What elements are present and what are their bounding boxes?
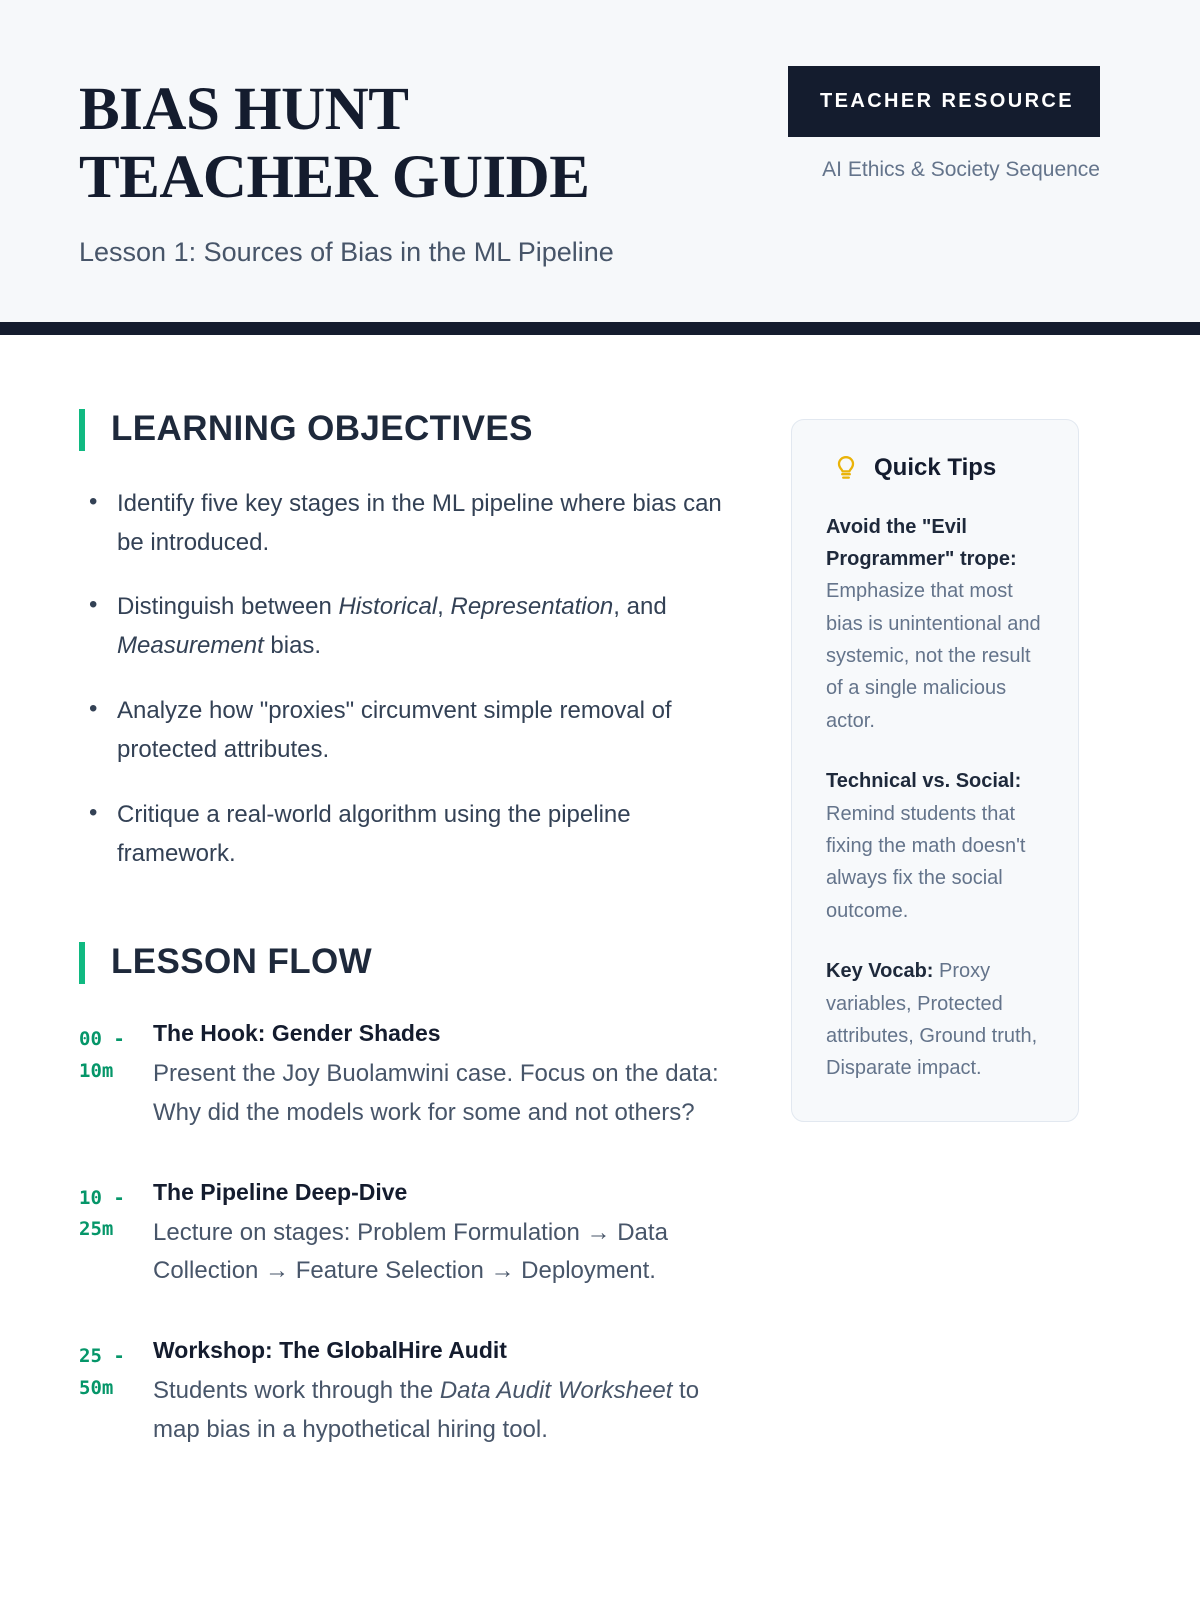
objective-item: Analyze how "proxies" circumvent simple … <box>79 692 739 770</box>
main-column: LEARNING OBJECTIVES Identify five key st… <box>79 409 739 1450</box>
sidebar-column: Quick Tips Avoid the "Evil Programmer" t… <box>791 409 1079 1122</box>
body-text: , and <box>613 593 666 620</box>
quick-tip-label: Technical vs. Social: <box>826 770 1021 792</box>
quick-tips-title: Quick Tips <box>874 454 996 483</box>
lesson-flow-description: Students work through the Data Audit Wor… <box>153 1372 739 1450</box>
quick-tip-item: Technical vs. Social: Remind students th… <box>826 765 1048 927</box>
body-text: bias. <box>264 632 321 659</box>
quick-tips-header: Quick Tips <box>826 454 1048 483</box>
body-text: Students work through the <box>153 1377 440 1404</box>
lesson-flow-time: 25 - 50m <box>79 1335 151 1405</box>
emphasis-text: Representation <box>451 593 614 620</box>
emphasis-text: Historical <box>338 593 437 620</box>
quick-tips-body: Avoid the "Evil Programmer" trope: Empha… <box>826 511 1048 1085</box>
body-text: Lecture on stages: Problem Formulation →… <box>153 1219 668 1285</box>
page-body: LEARNING OBJECTIVES Identify five key st… <box>0 335 1200 1510</box>
quick-tip-label: Key Vocab: <box>826 960 933 982</box>
body-text: Critique a real-world algorithm using th… <box>117 801 631 867</box>
objective-item: Distinguish between Historical, Represen… <box>79 588 739 666</box>
accent-bar-icon <box>79 409 85 451</box>
lightbulb-icon <box>834 455 858 481</box>
lesson-flow-time: 10 - 25m <box>79 1177 151 1247</box>
lesson-flow-description: Present the Joy Buolamwini case. Focus o… <box>153 1055 739 1133</box>
emphasis-text: Measurement <box>117 632 264 659</box>
body-text: Present the Joy Buolamwini case. Focus o… <box>153 1060 719 1126</box>
body-text: , <box>437 593 450 620</box>
lesson-flow-item: 25 - 50mWorkshop: The GlobalHire AuditSt… <box>79 1335 739 1450</box>
lesson-flow-title: The Hook: Gender Shades <box>153 1018 739 1049</box>
learning-objectives-section: LEARNING OBJECTIVES Identify five key st… <box>79 409 739 874</box>
lesson-flow-body: The Pipeline Deep-DiveLecture on stages:… <box>151 1177 739 1292</box>
accent-bar-icon <box>79 942 85 984</box>
header-title-block: BIAS HUNT TEACHER GUIDE Lesson 1: Source… <box>79 62 719 270</box>
lesson-flow-body: Workshop: The GlobalHire AuditStudents w… <box>151 1335 739 1450</box>
objective-item: Critique a real-world algorithm using th… <box>79 796 739 874</box>
header-meta-block: TEACHER RESOURCE AI Ethics & Society Seq… <box>788 62 1100 185</box>
lesson-flow-body: The Hook: Gender ShadesPresent the Joy B… <box>151 1018 739 1133</box>
flow-heading-row: LESSON FLOW <box>79 942 739 984</box>
quick-tips-card: Quick Tips Avoid the "Evil Programmer" t… <box>791 419 1079 1122</box>
lesson-flow-section: LESSON FLOW 00 - 10mThe Hook: Gender Sha… <box>79 942 739 1450</box>
body-text: Distinguish between <box>117 593 338 620</box>
quick-tip-text: Emphasize that most bias is unintentiona… <box>826 580 1041 732</box>
header-divider <box>0 322 1200 335</box>
quick-tip-label: Avoid the "Evil Programmer" trope: <box>826 516 1017 570</box>
page-header: BIAS HUNT TEACHER GUIDE Lesson 1: Source… <box>0 0 1200 322</box>
lesson-flow-item: 10 - 25mThe Pipeline Deep-DiveLecture on… <box>79 1177 739 1292</box>
objectives-list: Identify five key stages in the ML pipel… <box>79 485 739 874</box>
body-text: Analyze how "proxies" circumvent simple … <box>117 697 672 763</box>
objective-item: Identify five key stages in the ML pipel… <box>79 485 739 563</box>
page-title: BIAS HUNT TEACHER GUIDE <box>79 76 719 213</box>
sequence-label: AI Ethics & Society Sequence <box>788 155 1100 185</box>
emphasis-text: Data Audit Worksheet <box>440 1377 673 1404</box>
quick-tip-item: Avoid the "Evil Programmer" trope: Empha… <box>826 511 1048 738</box>
lesson-flow-time: 00 - 10m <box>79 1018 151 1088</box>
objectives-heading-row: LEARNING OBJECTIVES <box>79 409 739 451</box>
status-badge: TEACHER RESOURCE <box>788 66 1100 137</box>
lesson-flow-item: 00 - 10mThe Hook: Gender ShadesPresent t… <box>79 1018 739 1133</box>
objectives-heading: LEARNING OBJECTIVES <box>111 410 533 449</box>
lesson-flow-title: Workshop: The GlobalHire Audit <box>153 1335 739 1366</box>
quick-tip-item: Key Vocab: Proxy variables, Protected at… <box>826 955 1048 1085</box>
lesson-flow-description: Lecture on stages: Problem Formulation →… <box>153 1214 739 1292</box>
lesson-flow-heading: LESSON FLOW <box>111 943 372 982</box>
body-text: Identify five key stages in the ML pipel… <box>117 490 722 556</box>
page-subtitle: Lesson 1: Sources of Bias in the ML Pipe… <box>79 235 719 270</box>
lesson-flow-title: The Pipeline Deep-Dive <box>153 1177 739 1208</box>
lesson-flow-list: 00 - 10mThe Hook: Gender ShadesPresent t… <box>79 1018 739 1450</box>
quick-tip-text: Remind students that fixing the math doe… <box>826 803 1026 922</box>
